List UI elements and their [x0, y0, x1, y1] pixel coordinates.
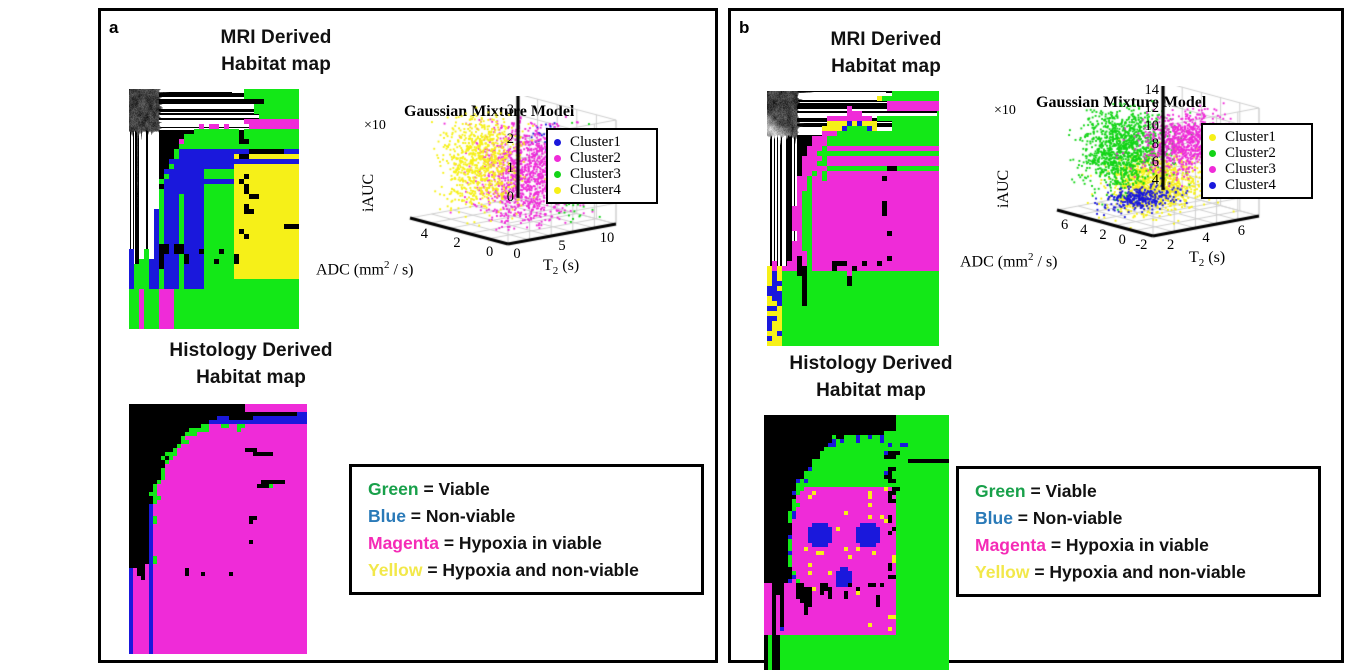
gmm-ytick: 3 [496, 102, 514, 119]
histology-title-line1-b: Histology Derived [726, 351, 1016, 378]
panel-a: a MRI Derived Habitat map Histology Deri… [98, 8, 718, 663]
habitat-legend-color-word: Magenta [368, 533, 439, 553]
mri-title-line2-a: Habitat map [161, 52, 391, 79]
habitat-legend-meaning: = Hypoxia and non-viable [422, 560, 638, 580]
habitat-legend-color-word: Green [368, 479, 419, 499]
habitat-legend-meaning: = Viable [419, 479, 490, 499]
figure-root: a MRI Derived Habitat map Histology Deri… [0, 0, 1348, 667]
gmm-xtick: 4 [415, 226, 433, 243]
gmm-xtick: 4 [1075, 222, 1093, 239]
panel-a-label: a [109, 19, 118, 36]
mri-map-title-a: MRI Derived Habitat map [161, 25, 391, 79]
gmm-ytick: 8 [1141, 136, 1159, 153]
histology-map-title-b: Histology Derived Habitat map [726, 351, 1016, 405]
histology-title-line2-b: Habitat map [726, 378, 1016, 405]
mri-title-line1-b: MRI Derived [771, 27, 1001, 54]
habitat-legend-meaning: = Non-viable [406, 506, 515, 526]
gmm-zlabel-main-b: T [1189, 249, 1199, 266]
gmm-legend-row: Cluster3 [1209, 161, 1304, 177]
gmm-ytick: 6 [1141, 154, 1159, 171]
habitat-legend-color-word: Yellow [368, 560, 422, 580]
gmm-ytick: 10 [1141, 118, 1159, 135]
gmm-xlabel-rest-b: / s) [1034, 253, 1058, 270]
gmm-ztick: 5 [553, 238, 571, 255]
gmm-ztick: 10 [598, 230, 616, 247]
mri-map-title-b: MRI Derived Habitat map [771, 27, 1001, 81]
gmm-cluster-legend-a: Cluster1Cluster2Cluster3Cluster4 [546, 128, 658, 204]
habitat-legend-meaning: = Non-viable [1013, 508, 1122, 528]
histology-title-line1-a: Histology Derived [106, 338, 396, 365]
gmm-legend-row: Cluster2 [1209, 145, 1304, 161]
cluster-color-dot-icon [1209, 134, 1216, 141]
panel-b: b MRI Derived Habitat map Histology Deri… [728, 8, 1344, 663]
habitat-legend-color-word: Green [975, 481, 1026, 501]
gmm-xtick: 2 [448, 235, 466, 252]
gmm-ytick: 4 [1141, 172, 1159, 189]
habitat-legend-row: Blue = Non-viable [368, 503, 687, 530]
cluster-color-dot-icon [1209, 150, 1216, 157]
mri-habitat-map-b [767, 91, 939, 346]
gmm-ztick: 2 [1162, 237, 1180, 254]
habitat-legend-color-word: Blue [368, 506, 406, 526]
panel-b-label: b [739, 19, 749, 36]
gmm-plot-a: Gaussian Mixture Model ×10 iAUC ADC (mm2… [356, 96, 711, 286]
cluster-color-dot-icon [1209, 166, 1216, 173]
histology-title-line2-a: Habitat map [106, 365, 396, 392]
mri-title-line1-a: MRI Derived [161, 25, 391, 52]
histology-map-title-a: Histology Derived Habitat map [106, 338, 396, 392]
histology-habitat-map-b [764, 415, 949, 670]
gmm-ytick: 0 [496, 189, 514, 206]
habitat-legend-meaning: = Viable [1026, 481, 1097, 501]
gmm-ytick: 1 [496, 160, 514, 177]
habitat-color-legend-b: Green = Viable Blue = Non-viable Magenta… [956, 466, 1321, 597]
gmm-legend-row: Cluster4 [554, 182, 649, 198]
habitat-legend-color-word: Magenta [975, 535, 1046, 555]
habitat-legend-color-word: Blue [975, 508, 1013, 528]
gmm-xlabel-a: ADC (mm2 / s) [316, 259, 414, 279]
habitat-legend-row: Green = Viable [368, 476, 687, 503]
gmm-zlabel-rest-b: (s) [1204, 249, 1225, 266]
habitat-legend-meaning: = Hypoxia in viable [1046, 535, 1209, 555]
gmm-zlabel-b: T2 (s) [1189, 249, 1225, 269]
gmm-legend-row: Cluster4 [1209, 177, 1304, 193]
habitat-legend-row: Blue = Non-viable [975, 505, 1304, 532]
gmm-xlabel-main-b: ADC (mm [960, 253, 1028, 270]
gmm-zlabel-a: T2 (s) [543, 257, 579, 277]
habitat-legend-meaning: = Hypoxia in viable [439, 533, 602, 553]
gmm-ztick: 4 [1197, 230, 1215, 247]
habitat-legend-row: Green = Viable [975, 478, 1304, 505]
gmm-legend-row: Cluster1 [554, 134, 649, 150]
gmm-ytick: 2 [496, 131, 514, 148]
gmm-xtick: 0 [481, 244, 499, 261]
gmm-plot-b: Gaussian Mixture Model ×10 iAUC ADC (mm2… [993, 86, 1343, 281]
gmm-xlabel-rest-a: / s) [390, 261, 414, 278]
gmm-xtick: 2 [1094, 227, 1112, 244]
histology-habitat-map-a [129, 404, 307, 654]
habitat-legend-row: Yellow = Hypoxia and non-viable [975, 559, 1304, 586]
habitat-legend-row: Magenta = Hypoxia in viable [975, 532, 1304, 559]
gmm-ytick: 12 [1141, 100, 1159, 117]
gmm-zlabel-rest-a: (s) [558, 257, 579, 274]
cluster-color-dot-icon [554, 155, 561, 162]
mri-habitat-map-a [129, 89, 299, 329]
gmm-ytick: 14 [1141, 82, 1159, 99]
gmm-zlabel-main-a: T [543, 257, 553, 274]
gmm-ylabel-b: iAUC [995, 170, 1013, 208]
gmm-xtick: 0 [1113, 232, 1131, 249]
gmm-xlabel-main-a: ADC (mm [316, 261, 384, 278]
cluster-color-dot-icon [554, 139, 561, 146]
cluster-color-dot-icon [554, 171, 561, 178]
mri-title-line2-b: Habitat map [771, 54, 1001, 81]
gmm-legend-label: Cluster2 [570, 151, 621, 166]
gmm-ylabel-a: iAUC [360, 174, 378, 212]
gmm-legend-label: Cluster3 [570, 167, 621, 182]
habitat-legend-row: Yellow = Hypoxia and non-viable [368, 557, 687, 584]
gmm-xtick: 6 [1056, 217, 1074, 234]
gmm-ztick: 6 [1232, 223, 1250, 240]
gmm-legend-row: Cluster1 [1209, 129, 1304, 145]
habitat-legend-row: Magenta = Hypoxia in viable [368, 530, 687, 557]
gmm-legend-label: Cluster1 [1225, 130, 1276, 145]
habitat-color-legend-a: Green = Viable Blue = Non-viable Magenta… [349, 464, 704, 595]
gmm-ztick: 0 [508, 246, 526, 263]
gmm-legend-label: Cluster4 [570, 183, 621, 198]
gmm-legend-label: Cluster3 [1225, 162, 1276, 177]
habitat-legend-meaning: = Hypoxia and non-viable [1029, 562, 1245, 582]
gmm-legend-row: Cluster3 [554, 166, 649, 182]
cluster-color-dot-icon [1209, 182, 1216, 189]
habitat-legend-color-word: Yellow [975, 562, 1029, 582]
gmm-legend-row: Cluster2 [554, 150, 649, 166]
cluster-color-dot-icon [554, 187, 561, 194]
gmm-xtick: -2 [1132, 237, 1150, 254]
gmm-xlabel-b: ADC (mm2 / s) [960, 251, 1058, 271]
gmm-legend-label: Cluster4 [1225, 178, 1276, 193]
gmm-legend-label: Cluster2 [1225, 146, 1276, 161]
gmm-cluster-legend-b: Cluster1Cluster2Cluster3Cluster4 [1201, 123, 1313, 199]
gmm-legend-label: Cluster1 [570, 135, 621, 150]
